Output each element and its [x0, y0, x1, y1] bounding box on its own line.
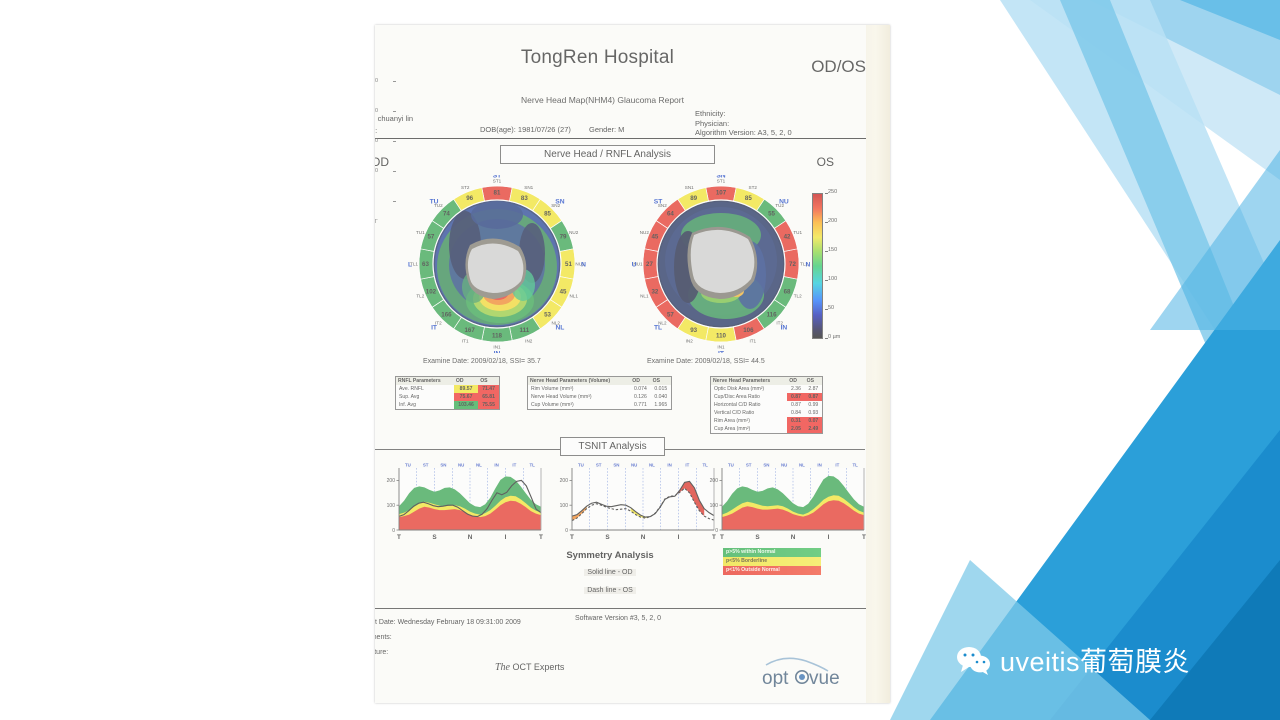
table-row-label: Cup Volume (mm³) [528, 401, 630, 409]
thickness-colorbar: 250 200 150 100 50 0 µm [812, 185, 862, 345]
nhm-sector-value: 102 [426, 288, 437, 295]
nhm-sector-code: IN1 [493, 345, 501, 350]
table-cell-od: 103.46 [454, 401, 478, 409]
table-row: Sup. Avg75.6765.81 [396, 393, 499, 401]
tsnit-x-tick: T [539, 534, 543, 541]
table-row: Cup Area (mm²)2.052.49 [711, 425, 822, 433]
header-divider [375, 138, 866, 139]
nhm-quadrant-label: NU [581, 261, 586, 268]
nhm-sector-value: 81 [494, 190, 501, 197]
table-row: Cup Volume (mm³)0.7711.965 [528, 401, 671, 409]
nhm-sector-value: 116 [767, 312, 778, 319]
od-eye-heading: OD [375, 155, 389, 169]
table-cell-od: 0.074 [630, 385, 650, 393]
nhm-quadrant-label: SN [716, 175, 725, 179]
patient-info-block: ent: chuanyi lin ase: [375, 113, 413, 137]
nhm-sector-code: NL1 [640, 293, 649, 298]
nhm-sector-code: ST2 [461, 185, 470, 190]
table-row-label: Nerve Head Volume (mm³) [528, 393, 630, 401]
hospital-name: TongRen Hospital [375, 47, 820, 69]
nhm-sector-code: NU2 [640, 230, 650, 235]
tsnit-sector-label: IT [512, 463, 516, 468]
tsnit-x-tick: T [720, 534, 724, 541]
nhm-quadrant-label: SN [555, 198, 564, 205]
table-row: Horizontal C/D Ratio0.870.99 [711, 401, 822, 409]
nhv-table-title: Nerve Head Parameters (Volume) [528, 377, 630, 385]
nerve-head-map-od[interactable]: 81ST183SN185SN279NU251NU145NL153NL2111IN… [408, 175, 586, 353]
nhm-sector-code: TL2 [416, 293, 424, 298]
tsnit-divider-right [665, 449, 865, 450]
nhp-col-od: OD [787, 377, 804, 385]
nerve-head-map-os[interactable]: 107ST189SN164SN245NU227NU132NL157NL293IN… [632, 175, 810, 353]
report-meta-block: Ethnicity: Physician: Algorithm Version:… [695, 109, 792, 138]
physician-field: Physician: [695, 119, 792, 129]
nhm-sector-value: 79 [560, 234, 567, 241]
tsnit-x-tick: S [755, 534, 760, 541]
table-row: Ave. RNFL89.5771.47 [396, 385, 499, 393]
nerve-head-section-title: Nerve Head / RNFL Analysis [500, 145, 715, 164]
table-row: Inf. Avg103.4675.55 [396, 401, 499, 409]
nhm-sector-value: 27 [646, 261, 653, 268]
nhm-quadrant-label: IN [494, 350, 501, 353]
tsnit-y-tick: 0 [565, 528, 568, 534]
nhm-sector-value: 53 [544, 312, 551, 319]
table-cell-os: 2.49 [805, 425, 822, 433]
dob-gender-block: DOB(age): 1981/07/26 (27) Gender: M [480, 125, 640, 134]
nhm-sector-value: 74 [443, 210, 450, 217]
scanned-oct-report-page: TongRen Hospital OD/OS Nerve Head Map(NH… [375, 25, 890, 703]
nhv-col-od: OD [630, 377, 650, 385]
wechat-icon [955, 645, 991, 675]
nhm-sector-value: 118 [492, 333, 503, 340]
tsnit-sector-label: IN [494, 463, 498, 468]
table-cell-os: 0.015 [651, 385, 671, 393]
tsnit-y-tick: 100 [560, 503, 569, 509]
nhm-sector-value: 166 [441, 312, 452, 319]
od-os-label: OD/OS [811, 57, 866, 77]
table-row: Rim Volume (mm³)0.0740.015 [528, 385, 671, 393]
tsnit-sector-label: TL [852, 463, 858, 468]
comments-field: omments: [375, 630, 521, 645]
nhm-sector-code: SN1 [524, 185, 533, 190]
symmetry-analysis-block: Symmetry Analysis Solid line - OD Dash l… [525, 550, 695, 597]
nhv-col-os: OS [651, 377, 671, 385]
tsnit-x-tick: N [791, 534, 796, 541]
tsnit-x-tick: I [828, 534, 830, 541]
symmetry-title: Symmetry Analysis [525, 550, 695, 561]
footer-block: eport Date: Wednesday February 18 09:31:… [375, 615, 521, 660]
nhm-quadrant-label: TU [632, 261, 637, 268]
tsnit-sector-label: SN [613, 463, 619, 468]
nhm-sector-code: TU1 [416, 230, 425, 235]
nhm-sector-value: 85 [544, 210, 551, 217]
examine-date-od: Examine Date: 2009/02/18, SSI= 35.7 [423, 358, 541, 365]
tsnit-sector-label: TL [529, 463, 535, 468]
tsnit-sector-label: ST [596, 463, 602, 468]
gender-value: Gender: M [589, 125, 624, 134]
decorative-background-shapes [850, 0, 1280, 720]
tsnit-chart-od[interactable]: TUSTSNNUNLINITTL0100200TSNIT [377, 460, 547, 550]
nerve-head-volume-table: Nerve Head Parameters (Volume) OD OS Rim… [527, 376, 672, 410]
table-row: Rim Area (mm²)0.310.07 [711, 417, 822, 425]
nhm-quadrant-label: TU [430, 198, 439, 205]
nhm-sector-value: 51 [565, 261, 572, 268]
symmetry-legend-od: Solid line - OD [584, 569, 635, 576]
os-eye-heading: OS [817, 155, 834, 169]
nhm-quadrant-label: NU [779, 198, 789, 205]
table-row-label: Rim Volume (mm³) [528, 385, 630, 393]
table-cell-od: 0.31 [787, 417, 804, 425]
tsnit-sector-label: IN [667, 463, 671, 468]
table-cell-os: 0.87 [805, 393, 822, 401]
tsnit-sector-label: NL [799, 463, 805, 468]
dob-value: DOB(age): 1981/07/26 (27) [480, 125, 571, 134]
nhm-sector-code: IN1 [717, 345, 725, 350]
tsnit-x-tick: T [397, 534, 401, 541]
tsnit-y-tick: 0 [392, 528, 395, 534]
nhm-sector-value: 63 [422, 261, 429, 268]
table-cell-od: 89.57 [454, 385, 478, 393]
table-cell-os: 0.07 [805, 417, 822, 425]
rnfl-col-os: OS [478, 377, 499, 385]
tsnit-sector-label: TU [405, 463, 411, 468]
tagline-oct-experts: OCT Experts [513, 662, 565, 672]
table-cell-od: 0.87 [787, 393, 804, 401]
table-cell-os: 0.99 [805, 401, 822, 409]
table-cell-od: 2.05 [787, 425, 804, 433]
ethnicity-field: Ethnicity: [695, 109, 792, 119]
nhm-sector-value: 96 [466, 195, 473, 202]
nhm-sector-code: IN2 [525, 338, 533, 343]
examine-date-os: Examine Date: 2009/02/18, SSI= 44.5 [647, 358, 765, 365]
table-row-label: Vertical C/D Ratio [711, 409, 787, 417]
nhm-sector-value: 68 [784, 288, 791, 295]
nhm-quadrant-label: IT [431, 324, 438, 331]
tsnit-sector-label: IT [685, 463, 689, 468]
software-version: Software Version #3, 5, 2, 0 [575, 615, 661, 622]
table-row-label: Cup Area (mm²) [711, 425, 787, 433]
tsnit-x-tick: N [468, 534, 473, 541]
tsnit-sector-label: NU [631, 463, 637, 468]
tsnit-x-tick: T [570, 534, 574, 541]
legend-outside-normal: p<1% Outside Normal [723, 566, 821, 575]
tsnit-x-tick: T [862, 534, 866, 541]
table-cell-od: 0.126 [630, 393, 650, 401]
report-date: eport Date: Wednesday February 18 09:31:… [375, 615, 521, 630]
wechat-account-name: uveitis葡萄膜炎 [1000, 640, 1190, 679]
algorithm-version: Algorithm Version: A3, 5, 2, 0 [695, 128, 792, 138]
table-cell-os: 0.040 [651, 393, 671, 401]
symmetry-legend-os: Dash line - OS [584, 587, 636, 594]
tsnit-sector-label: NL [476, 463, 482, 468]
colorbar-ticks: 250 200 150 100 50 0 µm [825, 185, 861, 345]
optovue-logo: opt vue [760, 653, 846, 692]
svg-text:opt: opt [762, 668, 789, 687]
nhm-sector-value: 32 [651, 288, 658, 295]
table-cell-os: 0.93 [805, 409, 822, 417]
table-row: Cup/Disc Area Ratio0.870.87 [711, 393, 822, 401]
tsnit-x-tick: S [605, 534, 610, 541]
table-cell-os: 1.965 [651, 401, 671, 409]
nhm-sector-code: NU2 [569, 230, 579, 235]
nhm-quadrant-label: NL [806, 261, 810, 268]
nhm-sector-value: 167 [464, 327, 475, 334]
tsnit-sector-label: ST [746, 463, 752, 468]
tsnit-sector-label: IN [817, 463, 821, 468]
footer-divider [375, 608, 866, 609]
nhm-sector-value: 83 [521, 195, 528, 202]
rnfl-table-title: RNFL Parameters [396, 377, 454, 385]
table-cell-od: 0.771 [630, 401, 650, 409]
tsnit-sector-label: IT [835, 463, 839, 468]
table-row-label: Horizontal C/D Ratio [711, 401, 787, 409]
nhm-sector-value: 85 [745, 195, 752, 202]
legend-borderline: p<5% Borderline [723, 557, 821, 566]
nhm-sector-value: 72 [789, 261, 796, 268]
table-row: Nerve Head Volume (mm³)0.1260.040 [528, 393, 671, 401]
nhm-sector-value: 55 [768, 210, 775, 217]
rnfl-parameters-table: RNFL Parameters OD OS Ave. RNFL89.5771.4… [395, 376, 500, 410]
legend-within-normal: p>5% within Normal [723, 548, 821, 557]
tsnit-chart-symmetry[interactable]: TUSTSNNUNLINITTL0100200TSNIT [550, 460, 720, 550]
nhp-col-os: OS [805, 377, 822, 385]
table-row-label: Cup/Disc Area Ratio [711, 393, 787, 401]
nhm-sector-value: 57 [427, 234, 434, 241]
page-edge-shadow [866, 25, 890, 703]
tsnit-sector-label: NL [649, 463, 655, 468]
nhm-sector-value: 107 [716, 190, 727, 197]
table-row-label: Sup. Avg [396, 393, 454, 401]
report-subtitle: Nerve Head Map(NHM4) Glaucoma Report [375, 95, 830, 105]
nhm-sector-code: ST2 [749, 185, 758, 190]
nhm-sector-value: 111 [520, 327, 530, 334]
nhm-sector-value: 110 [716, 333, 727, 340]
tsnit-y-tick: 0 [715, 528, 718, 534]
rnfl-col-od: OD [454, 377, 478, 385]
nhm-sector-value: 93 [690, 327, 697, 334]
table-cell-od: 0.84 [787, 409, 804, 417]
table-cell-od: 2.36 [787, 385, 804, 393]
nhm-sector-code: NL1 [569, 293, 578, 298]
nhm-quadrant-label: TL [408, 261, 412, 268]
table-row-label: Ave. RNFL [396, 385, 454, 393]
normative-legend: p>5% within Normal p<5% Borderline p<1% … [723, 548, 821, 575]
tsnit-y-tick: 200 [387, 478, 396, 484]
table-row: Optic Disk Area (mm²)2.362.87 [711, 385, 822, 393]
tsnit-sector-label: TU [578, 463, 584, 468]
nhm-sector-code: TU1 [793, 230, 802, 235]
svg-text:vue: vue [809, 668, 840, 687]
tsnit-sector-label: SN [763, 463, 769, 468]
brand-tagline: The OCT Experts [495, 662, 564, 673]
nhm-quadrant-label: ST [493, 175, 502, 179]
nhm-quadrant-label: IT [718, 350, 725, 353]
patient-name: ent: chuanyi lin [375, 113, 413, 125]
signature-field: ignature: [375, 645, 521, 660]
table-row: Vertical C/D Ratio0.840.93 [711, 409, 822, 417]
tsnit-y-tick: 200 [710, 478, 719, 484]
nhm-sector-code: IT1 [462, 338, 469, 343]
table-row-label: Optic Disk Area (mm²) [711, 385, 787, 393]
tsnit-x-tick: I [678, 534, 680, 541]
tsnit-divider-left [375, 449, 560, 450]
table-cell-os: 2.87 [805, 385, 822, 393]
nerve-head-parameters-table: Nerve Head Parameters OD OS Optic Disk A… [710, 376, 823, 434]
nhm-sector-value: 89 [690, 195, 697, 202]
tsnit-chart-os[interactable]: TUSTSNNUNLINITTL0100200TSNIT [700, 460, 870, 550]
tsnit-x-tick: I [505, 534, 507, 541]
table-cell-od: 0.87 [787, 401, 804, 409]
tsnit-sector-label: NU [458, 463, 464, 468]
table-cell-os: 71.47 [478, 385, 499, 393]
colorbar-gradient [812, 193, 823, 339]
nhm-sector-value: 42 [784, 234, 791, 241]
nhm-sector-value: 57 [667, 312, 674, 319]
tsnit-sector-label: ST [423, 463, 429, 468]
nhm-quadrant-label: TL [654, 324, 662, 331]
tsnit-x-tick: N [641, 534, 646, 541]
tsnit-y-tick: 100 [387, 503, 396, 509]
nhm-quadrant-label: ST [654, 198, 663, 205]
nhm-sector-code: SN1 [685, 185, 694, 190]
nhm-sector-code: IN2 [686, 338, 694, 343]
table-cell-os: 65.81 [478, 393, 499, 401]
nhm-sector-code: TL2 [794, 293, 802, 298]
tsnit-section-title: TSNIT Analysis [560, 437, 665, 456]
nhm-sector-code: IT1 [749, 338, 756, 343]
nhm-quadrant-label: IN [781, 324, 788, 331]
disease-field: ase: [375, 125, 413, 137]
nhm-sector-value: 64 [667, 210, 674, 217]
tsnit-x-tick: S [432, 534, 437, 541]
tsnit-sector-label: NU [781, 463, 787, 468]
tsnit-y-tick: 100 [710, 503, 719, 509]
table-cell-od: 75.67 [454, 393, 478, 401]
nhm-sector-value: 45 [560, 288, 567, 295]
nhp-table-title: Nerve Head Parameters [711, 377, 787, 385]
tsnit-sector-label: TU [728, 463, 734, 468]
tsnit-sector-label: SN [440, 463, 446, 468]
tagline-the: The [495, 662, 510, 673]
table-cell-os: 75.55 [478, 401, 499, 409]
nhm-sector-value: 106 [743, 327, 754, 334]
nhm-quadrant-label: NL [555, 324, 564, 331]
tsnit-y-tick: 200 [560, 478, 569, 484]
nhm-sector-value: 45 [651, 234, 658, 241]
table-row-label: Inf. Avg [396, 401, 454, 409]
wechat-account-footer: uveitis葡萄膜炎 [955, 640, 1190, 679]
table-row-label: Rim Area (mm²) [711, 417, 787, 425]
